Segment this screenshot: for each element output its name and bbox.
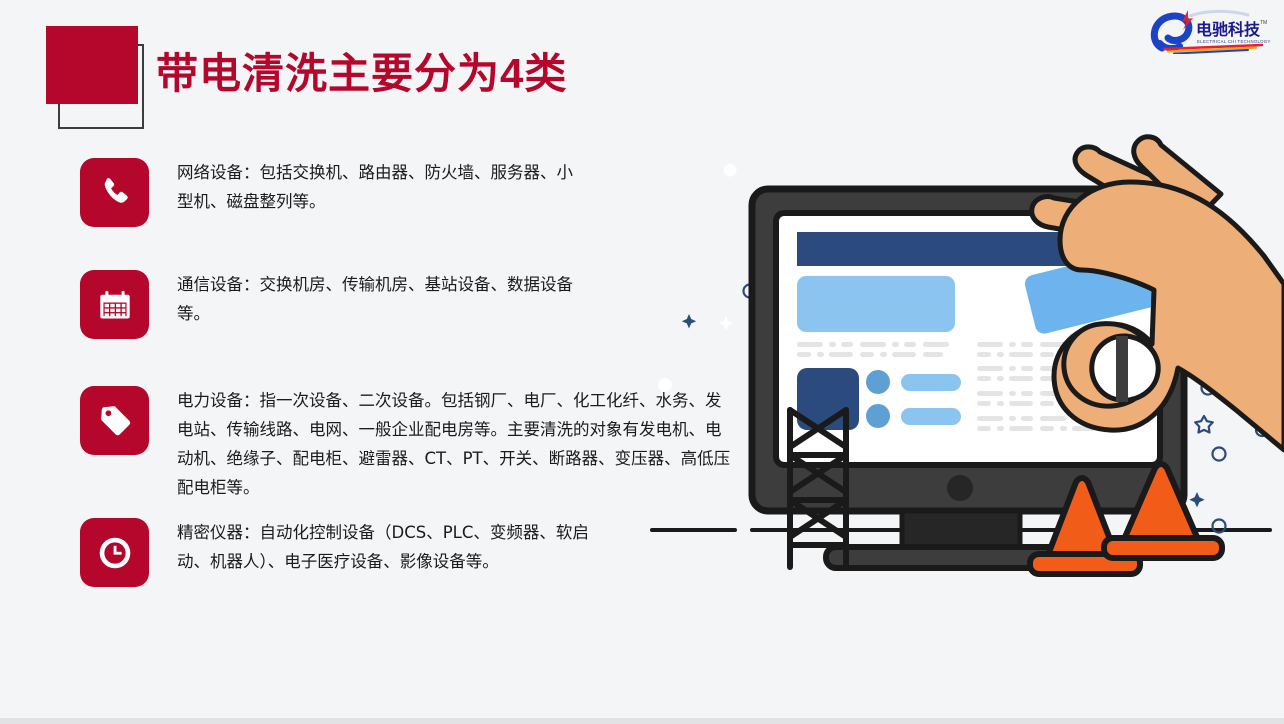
- list-item-text: 通信设备：交换机房、传输机房、基站设备、数据设备等。: [177, 270, 577, 328]
- screen-avatar-1: [866, 370, 890, 394]
- list-item: 通信设备：交换机房、传输机房、基站设备、数据设备等。: [80, 270, 577, 339]
- illustration-svg: [630, 110, 1284, 590]
- list-item: 精密仪器：自动化控制设备（DCS、PLC、变频器、软启动、机器人）、电子医疗设备…: [80, 518, 597, 587]
- monitor-camera-dot: [947, 475, 973, 501]
- screen-avatar-2: [866, 404, 890, 428]
- phone-icon-badge: [80, 158, 149, 227]
- calendar-icon: [97, 287, 133, 323]
- logo-brand-en: ELECTRICAL CHI TECHNOLOGY: [1197, 39, 1271, 44]
- tag-icon-badge: [80, 386, 149, 455]
- screen-line-2: [901, 408, 961, 425]
- tag-icon: [97, 403, 133, 439]
- list-item-text: 精密仪器：自动化控制设备（DCS、PLC、变频器、软启动、机器人）、电子医疗设备…: [177, 518, 597, 576]
- logo-trademark: TM: [1260, 20, 1267, 26]
- clock-icon: [97, 535, 133, 571]
- monitor-hand-illustration: [630, 110, 1284, 590]
- list-item-text: 网络设备：包括交换机、路由器、防火墙、服务器、小型机、磁盘整列等。: [177, 158, 577, 216]
- logo-brand-cn: 电驰科技: [1196, 20, 1261, 39]
- list-item: 网络设备：包括交换机、路由器、防火墙、服务器、小型机、磁盘整列等。: [80, 158, 577, 227]
- screen-hero-block: [797, 276, 955, 332]
- page-title: 带电清洗主要分为4类: [156, 42, 567, 106]
- phone-icon: [97, 175, 133, 211]
- title-decor-filled-square: [46, 26, 138, 104]
- clock-icon-badge: [80, 518, 149, 587]
- logo-mark: 电驰科技 ELECTRICAL CHI TECHNOLOGY TM: [1144, 4, 1276, 54]
- screen-line-1: [901, 374, 961, 391]
- calendar-icon-badge: [80, 270, 149, 339]
- bottom-strip: [0, 718, 1284, 724]
- company-logo: 电驰科技 ELECTRICAL CHI TECHNOLOGY TM: [1144, 4, 1276, 54]
